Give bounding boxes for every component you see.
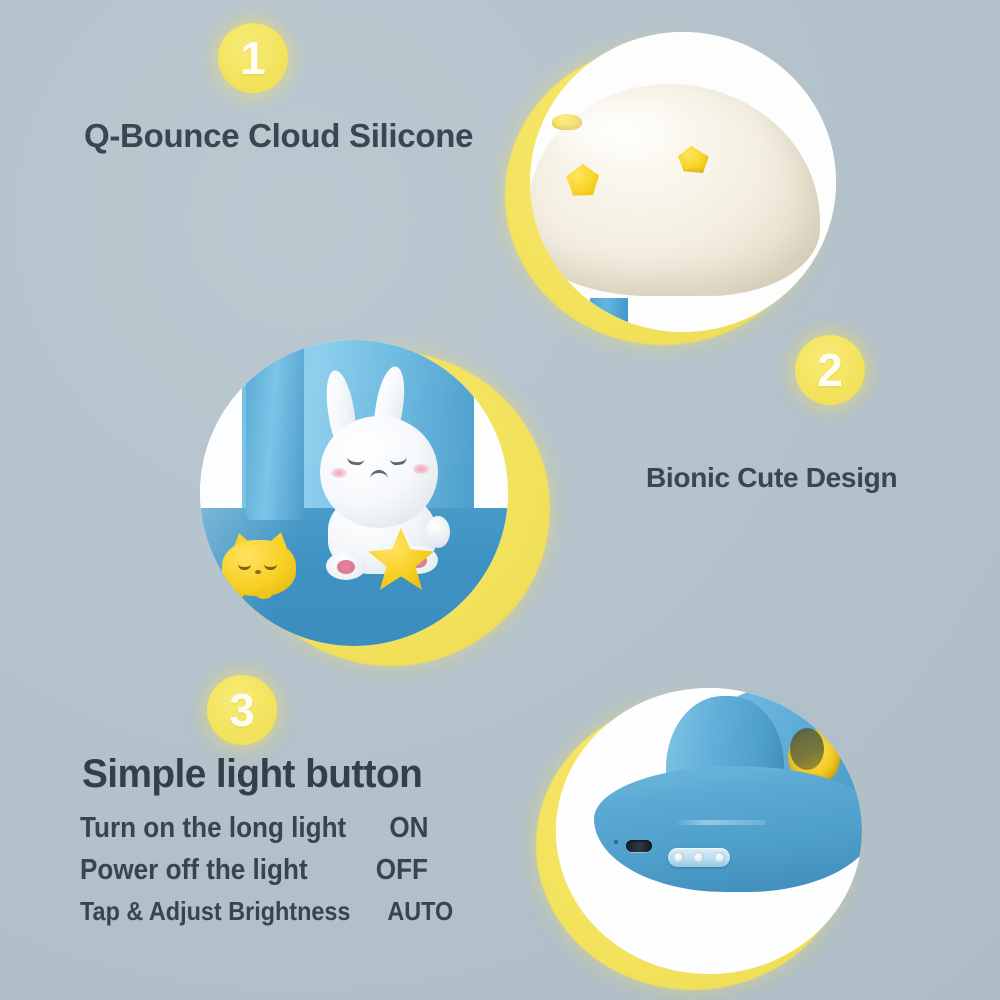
cloud-silicone-lampshade-photo (530, 32, 836, 332)
feature-title-2: Bionic Cute Design (646, 462, 897, 494)
photo-3-backdrop (556, 688, 862, 974)
spec-row: Power off the light OFF (80, 854, 428, 896)
star-bump-icon (678, 146, 710, 174)
lamp-base-button-photo (556, 688, 862, 974)
spec-label: Power off the light (80, 854, 308, 887)
spec-row: Tap & Adjust Brightness AUTO (80, 896, 428, 938)
photo-2-backdrop (200, 340, 508, 646)
cat-paw-right (256, 590, 272, 599)
step-number-badge-2: 2 (795, 335, 865, 405)
spec-label: Turn on the long light (80, 812, 346, 845)
cloud-lampshade-shape (530, 84, 820, 296)
cat-paw-left (228, 590, 244, 599)
light-button-icon (714, 852, 725, 863)
button-spec-list: Turn on the long light ON Power off the … (80, 812, 428, 938)
feature-title-3: Simple light button (82, 752, 422, 797)
yellow-cat-figure (222, 540, 296, 596)
bunny-arm (426, 516, 450, 548)
spec-value: AUTO (388, 896, 454, 927)
product-feature-infographic: 1 Q-Bounce Cloud Silicone 2 Bionic Cute … (0, 0, 1000, 1000)
light-button-strip (668, 848, 730, 867)
spec-label: Tap & Adjust Brightness (80, 896, 350, 927)
usb-c-port-icon (626, 840, 652, 852)
step-number-badge-3: 3 (207, 675, 277, 745)
spec-value: OFF (376, 854, 428, 887)
cat-nose (255, 570, 261, 574)
spec-row: Turn on the long light ON (80, 812, 428, 854)
bunny-and-cat-figure-photo (200, 340, 508, 646)
bunny-cheek-left (331, 468, 347, 478)
photo-1-backdrop (530, 32, 836, 332)
indicator-dot (614, 840, 618, 844)
spec-value: ON (389, 812, 428, 845)
step-number-badge-1: 1 (218, 23, 288, 93)
lamp-stem (590, 298, 628, 332)
star-bump-icon (564, 164, 602, 200)
bunny-paw-pad-left (337, 560, 355, 574)
light-button-icon (673, 852, 684, 863)
feature-title-1: Q-Bounce Cloud Silicone (84, 117, 473, 155)
light-button-icon (693, 852, 704, 863)
star-bump-icon (552, 114, 582, 130)
bunny-cheek-right (413, 464, 429, 474)
blue-pillar (246, 340, 304, 520)
base-seam-highlight (674, 820, 766, 825)
